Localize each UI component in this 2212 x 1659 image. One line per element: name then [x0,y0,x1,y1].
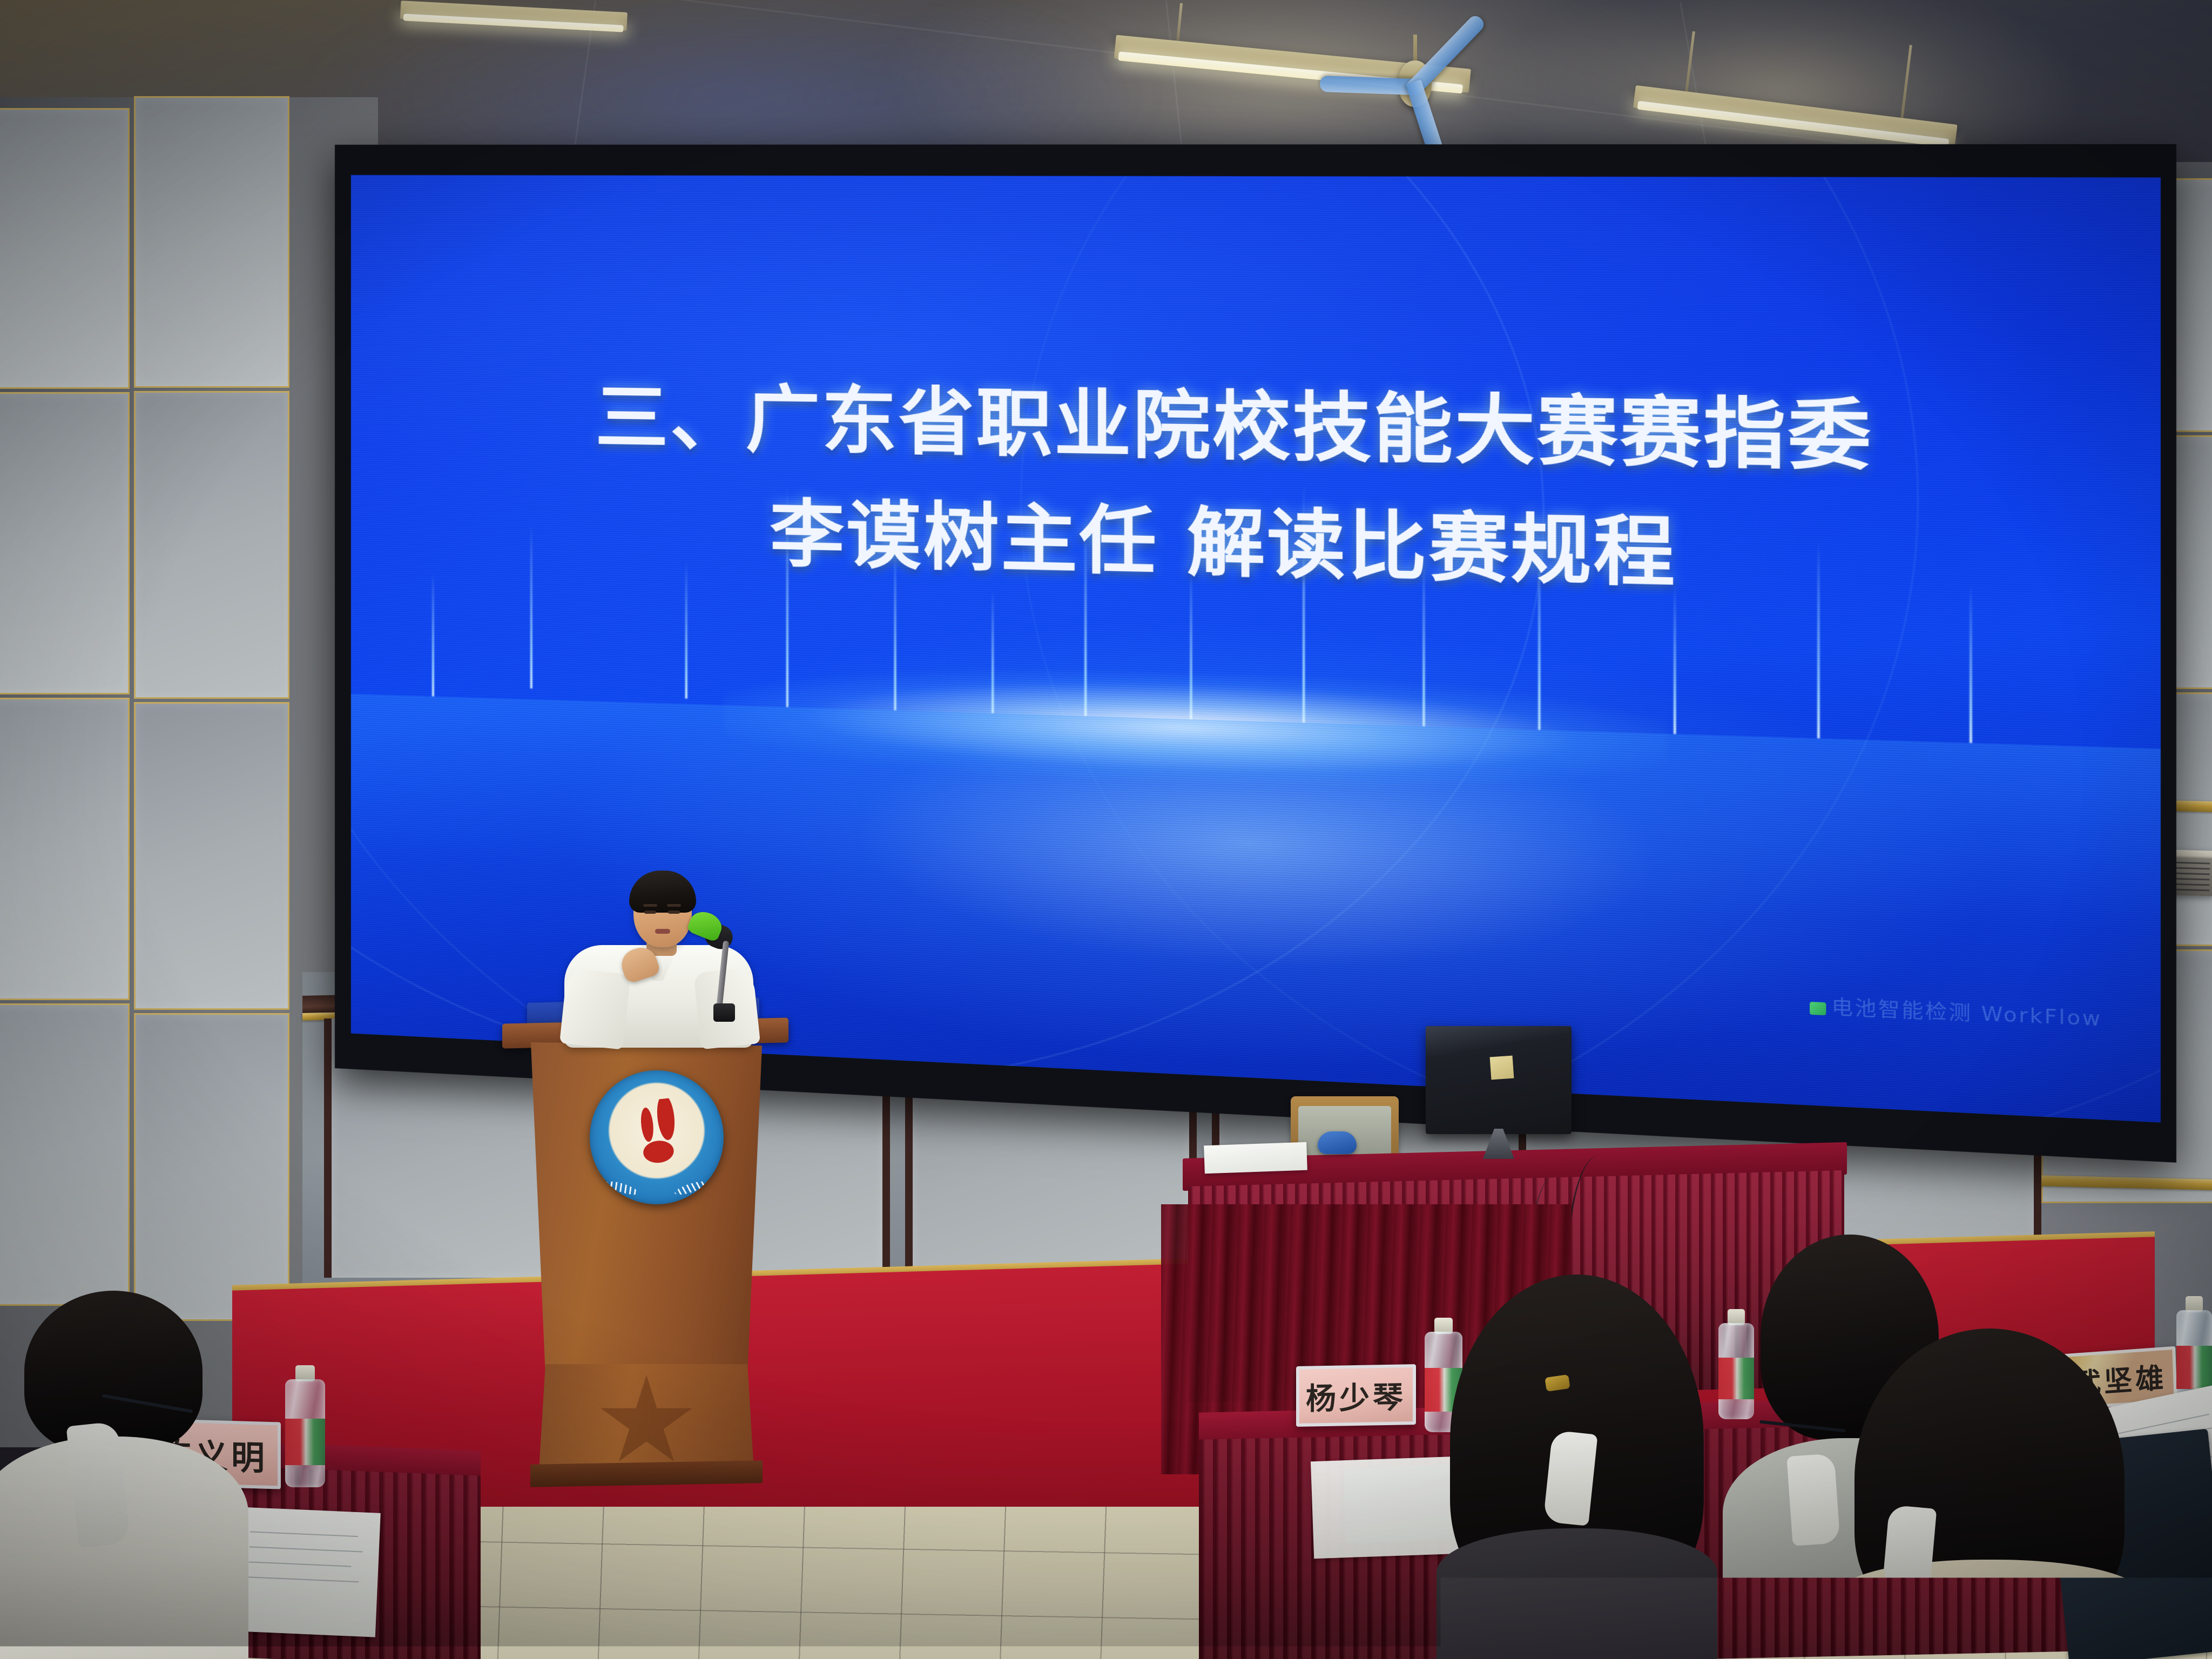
computer-monitor [1426,1026,1572,1161]
wall-panel [0,1003,130,1306]
wall-panel [0,698,130,1000]
star-motif [599,1375,694,1470]
conference-hall-photo: 电池智能检测 WorkFlow 三、广东省职业院校技能大赛赛指委 李谟树主任 解… [0,0,2212,1659]
nameplate-yang-shaoqin: 杨少琴 [1296,1364,1416,1427]
computer-mouse[interactable] [1318,1131,1357,1154]
wall-panel [134,391,289,699]
slide-text-block: 三、广东省职业院校技能大赛赛指委 李谟树主任 解读比赛规程 [475,365,2013,616]
paper-sheet [1204,1142,1307,1174]
podium [502,1021,788,1485]
podium-body [526,1042,767,1372]
audience-person-left [0,1285,248,1659]
ceiling-fan [1307,35,1523,153]
school-emblem [590,1070,724,1204]
audience-person-woman-2 [1838,1328,2141,1659]
wall-panel [0,108,130,389]
wall-panel [134,96,289,388]
emblem-bird-motif [624,1097,691,1170]
face-mask [1883,1505,1937,1589]
wall-panel [0,392,130,694]
podium-base [539,1364,754,1470]
wall-panel [134,702,289,1010]
face-mask [1543,1430,1597,1526]
emblem-wheat-left [605,1179,640,1197]
emblem-wheat-right [673,1179,708,1197]
wall-panel [134,1013,289,1321]
podium-plinth [530,1460,763,1487]
watermark-icon [1810,1002,1826,1015]
slide-heading-line-1: 三、广东省职业院校技能大赛赛指委 [475,365,2013,494]
light-streak [432,571,434,696]
face-mask [1786,1453,1840,1546]
microphone [683,913,748,1031]
water-bottle [285,1365,325,1487]
monitor-sticker [1490,1056,1514,1080]
